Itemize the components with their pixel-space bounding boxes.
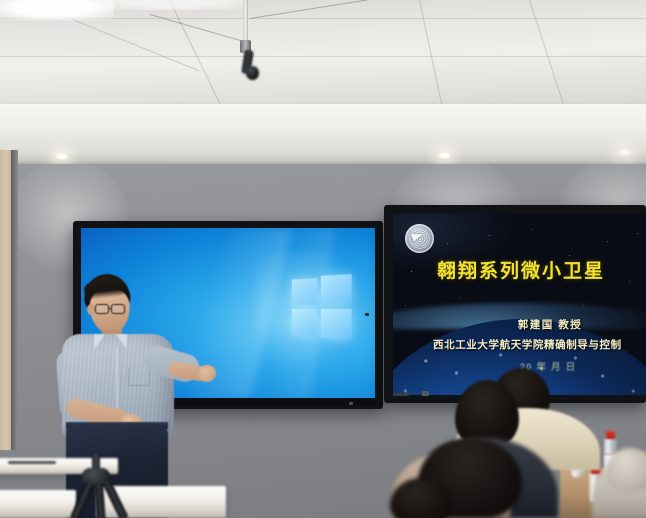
- tripod-leg: [69, 480, 94, 518]
- slide-affiliation: 西北工业大学航天学院精确制导与控制: [433, 337, 646, 352]
- slide-title: 翱翔系列微小卫星: [437, 256, 646, 283]
- recessed-panel-light: [96, 0, 246, 10]
- camera-mount-pole: [243, 0, 248, 42]
- nwpu-university-emblem-icon: [405, 224, 434, 253]
- slide-presenter-name: 郭建国 教授: [435, 317, 646, 332]
- windows-logo: [292, 274, 352, 340]
- ceiling-beam: [0, 104, 646, 166]
- ceiling-downlight: [618, 149, 631, 156]
- right-display-sensor-icon: [422, 391, 429, 396]
- glasses-icon: [95, 304, 109, 314]
- left-display-indicator-icon: [349, 402, 353, 405]
- glasses-icon: [111, 304, 125, 314]
- right-display-indicator-icon: [393, 393, 409, 396]
- lecture-room-photo: 翱翔系列微小卫星 郭建国 教授 西北工业大学航天学院精确制导与控制 20 年 月…: [0, 0, 646, 518]
- bottle-cap-icon: [606, 431, 615, 439]
- speaker-ear: [87, 304, 95, 315]
- glasses-bridge: [109, 308, 112, 309]
- power-led-icon: [365, 313, 369, 316]
- ceiling-downlight: [438, 152, 451, 159]
- ceiling-camera-lens-icon: [246, 66, 259, 80]
- desk-cable-slot: [8, 461, 56, 464]
- audience-head: [606, 448, 646, 492]
- ceiling-downlight: [55, 153, 68, 160]
- shirt-pocket: [128, 368, 150, 386]
- tripod-leg: [102, 480, 129, 518]
- slide-date: 20 年 月 日: [453, 359, 643, 373]
- camera-tripod: [58, 468, 132, 518]
- shirt-collar-left: [94, 334, 105, 350]
- wall-edge-shadow: [11, 150, 18, 450]
